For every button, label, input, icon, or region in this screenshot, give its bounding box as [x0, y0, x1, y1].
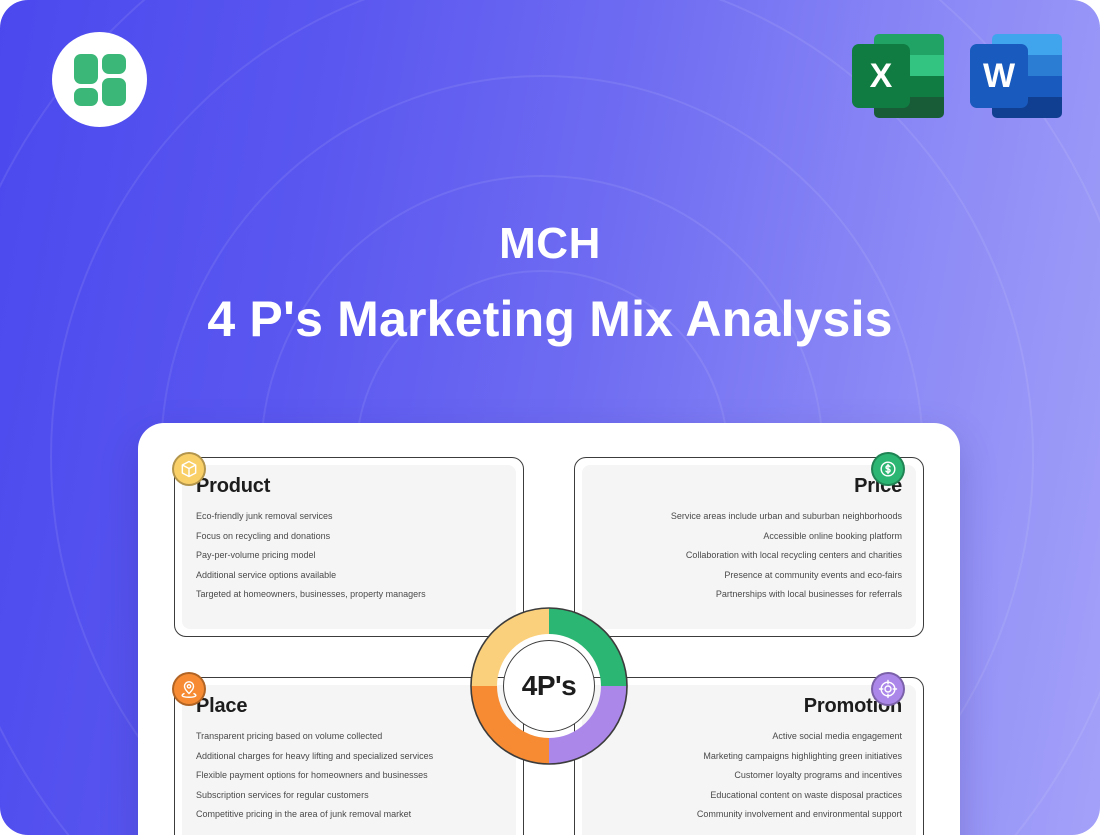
list-item: Presence at community events and eco-fai…	[596, 571, 902, 580]
page-title: 4 P's Marketing Mix Analysis	[0, 294, 1100, 344]
list-item: Accessible online booking platform	[596, 532, 902, 541]
panel-place-list: Transparent pricing based on volume coll…	[196, 732, 502, 819]
list-item: Collaboration with local recycling cente…	[596, 551, 902, 560]
target-crosshair-icon[interactable]	[871, 672, 905, 706]
four-p-donut: 4P's	[470, 607, 628, 765]
list-item: Transparent pricing based on volume coll…	[196, 732, 502, 741]
list-item: Additional service options available	[196, 571, 502, 580]
brand-logo	[52, 32, 147, 127]
location-pin-icon[interactable]	[172, 672, 206, 706]
package-box-icon[interactable]	[172, 452, 206, 486]
list-item: Educational content on waste disposal pr…	[596, 791, 902, 800]
panel-product-list: Eco-friendly junk removal services Focus…	[196, 512, 502, 599]
panel-place-title: Place	[196, 695, 502, 718]
list-item: Partnerships with local businesses for r…	[596, 590, 902, 599]
list-item: Marketing campaigns highlighting green i…	[596, 752, 902, 761]
list-item: Additional charges for heavy lifting and…	[196, 752, 502, 761]
excel-icon-letter: X	[852, 44, 910, 108]
eyebrow-title: MCH	[0, 222, 1100, 266]
list-item: Pay-per-volume pricing model	[196, 551, 502, 560]
panel-price-list: Service areas include urban and suburban…	[596, 512, 902, 599]
list-item: Service areas include urban and suburban…	[596, 512, 902, 521]
word-icon[interactable]: W	[970, 30, 1062, 122]
grid-logo-icon	[74, 54, 126, 106]
list-item: Competitive pricing in the area of junk …	[196, 810, 502, 819]
app-icon-group: X W	[852, 30, 1062, 122]
panel-product-title: Product	[196, 475, 502, 498]
list-item: Eco-friendly junk removal services	[196, 512, 502, 521]
dollar-coin-icon[interactable]	[871, 452, 905, 486]
word-icon-letter: W	[970, 44, 1028, 108]
list-item: Focus on recycling and donations	[196, 532, 502, 541]
list-item: Subscription services for regular custom…	[196, 791, 502, 800]
list-item: Active social media engagement	[596, 732, 902, 741]
list-item: Flexible payment options for homeowners …	[196, 771, 502, 780]
donut-center-label: 4P's	[522, 670, 576, 702]
list-item: Community involvement and environmental …	[596, 810, 902, 819]
list-item: Customer loyalty programs and incentives	[596, 771, 902, 780]
panel-promotion-list: Active social media engagement Marketing…	[596, 732, 902, 819]
excel-icon[interactable]: X	[852, 30, 944, 122]
slide-canvas: X W MCH 4 P's Marketing Mix Analysis Pro…	[0, 0, 1100, 835]
title-block: MCH 4 P's Marketing Mix Analysis	[0, 222, 1100, 344]
panel-promotion-title: Promotion	[596, 695, 902, 718]
list-item: Targeted at homeowners, businesses, prop…	[196, 590, 502, 599]
donut-center: 4P's	[503, 640, 595, 732]
panel-price-title: Price	[596, 475, 902, 498]
